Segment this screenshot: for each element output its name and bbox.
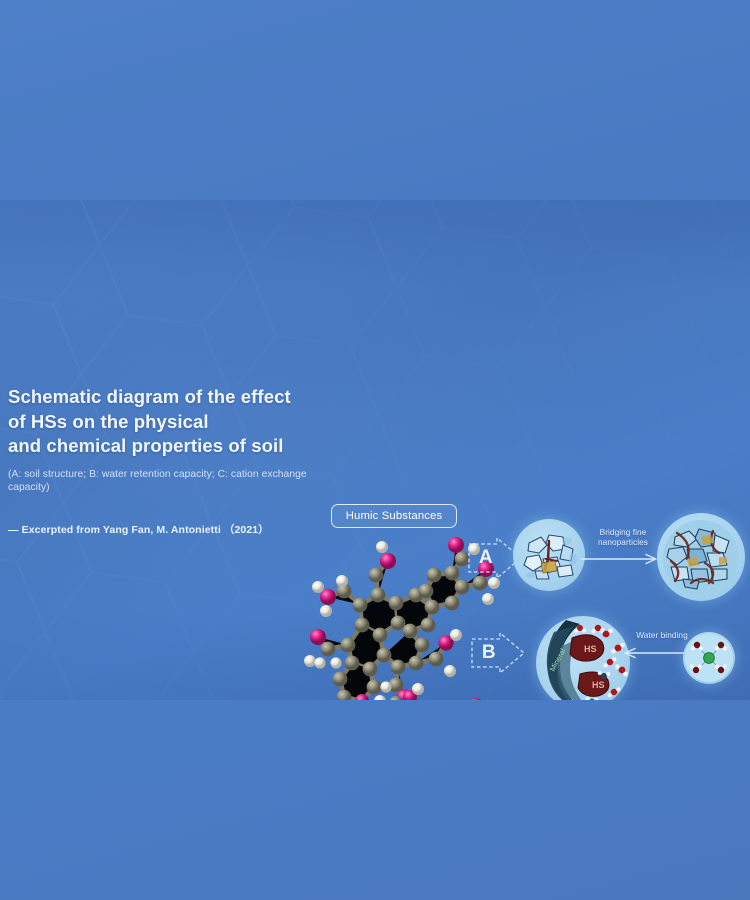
circle-loose-mineral-particles <box>513 519 585 591</box>
hs-blob-label-1: HS <box>584 644 597 654</box>
image-canvas: Schematic diagram of the effect of HSs o… <box>0 0 750 900</box>
hydrated-cation-art <box>683 632 735 684</box>
diagram-banner: Schematic diagram of the effect of HSs o… <box>0 200 750 700</box>
title-line-1: Schematic diagram of the effect <box>8 385 338 410</box>
bridged-soil-aggregate-art <box>657 513 745 601</box>
title-line-3: and chemical properties of soil <box>8 434 338 459</box>
connector-label-bridging: Bridging fine nanoparticles <box>576 527 670 548</box>
circle-humic-coated-mineral-with-water: HS HS Mineral <box>536 616 630 700</box>
circle-hydrated-cation-cluster <box>683 632 735 684</box>
hs-blob-label-2: HS <box>592 680 605 690</box>
marker-label-b-wrap: B <box>470 631 526 675</box>
circle-bridged-soil-aggregate <box>657 513 745 601</box>
title-line-2: of HSs on the physical <box>8 410 338 435</box>
text-block: Schematic diagram of the effect of HSs o… <box>8 385 338 537</box>
loose-mineral-particles-art <box>513 519 585 591</box>
attribution-line: — Excerpted from Yang Fan, M. Antonietti… <box>8 522 338 537</box>
marker-label-b: B <box>476 631 502 675</box>
marker-label-a: A <box>473 536 499 580</box>
page-title: Schematic diagram of the effect of HSs o… <box>8 385 338 459</box>
subtitle-legend: (A: soil structure; B: water retention c… <box>8 468 338 495</box>
cation-center <box>704 653 715 664</box>
humic-substances-text: Humic Substances <box>346 510 443 522</box>
connector-label-water-binding: Water binding <box>624 630 700 640</box>
humic-coated-mineral-art: HS HS Mineral <box>536 616 630 700</box>
arrow-right-icon-a <box>580 552 666 566</box>
